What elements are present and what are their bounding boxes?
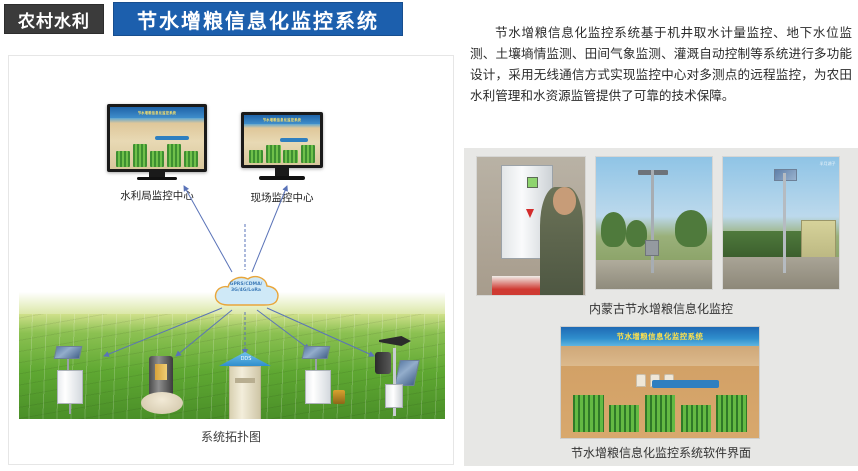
topology-caption: 系统拓扑图 <box>9 428 453 445</box>
metering-vent-icon <box>235 378 255 383</box>
gallery-block: 半月湖子 内蒙古节水增粮信息化监控 节水增粮信息化监控系统 <box>464 148 858 466</box>
topology-panel: 节水增粮信息化监控系统 水利局监控中心 <box>8 55 454 465</box>
sensor-enclosure-icon <box>645 240 659 256</box>
mast-icon <box>651 170 654 273</box>
solar-panel-icon <box>302 346 331 359</box>
node-weather-station <box>371 336 429 416</box>
metering-house-icon <box>229 366 261 419</box>
weather-cabinet-icon <box>385 384 403 408</box>
solar-panel-icon <box>394 360 420 386</box>
well-base-icon <box>141 392 183 414</box>
cabinet-icon <box>305 370 331 404</box>
wind-vane-icon <box>379 336 411 346</box>
software-interface-screenshot: 节水增粮信息化监控系统 <box>560 326 760 439</box>
gateway-label: DDS <box>235 356 257 363</box>
topology-diagram: 节水增粮信息化监控系统 水利局监控中心 <box>19 64 445 419</box>
valve-icon <box>333 390 345 404</box>
photos-caption: 内蒙古节水增粮信息化监控 <box>464 300 858 317</box>
photo-row: 半月湖子 <box>476 156 848 296</box>
photo-watermark: 半月湖子 <box>820 161 836 167</box>
software-caption: 节水增粮信息化监控系统软件界面 <box>464 444 858 461</box>
crop-plot <box>645 395 676 433</box>
high-voltage-icon <box>526 209 534 218</box>
cabinet-icon <box>57 370 83 404</box>
solar-panel-icon <box>54 346 83 359</box>
technician-head <box>553 187 577 215</box>
page-root: 农村水利 节水增粮信息化监控系统 节水增粮信息化监控系统 <box>0 0 858 471</box>
pole-icon <box>69 404 71 414</box>
content-panel: 节水增粮信息化监控系统基于机井取水计量监控、地下水位监测、土壤墒情监测、田间气象… <box>462 0 858 471</box>
crop-plot <box>681 405 712 432</box>
ground-path <box>596 260 712 289</box>
software-scene-sky <box>561 346 759 366</box>
page-title: 节水增粮信息化监控系统 <box>113 2 403 36</box>
crop-fields-graphic <box>573 395 747 433</box>
cloud-network-label: GPRS/CDMA/ 3G/4G/LoRa <box>210 282 282 294</box>
hedge-row <box>723 231 807 257</box>
control-cabinet-photo <box>476 156 586 296</box>
intro-paragraph: 节水增粮信息化监控系统基于机井取水计量监控、地下水位监测、土壤墒情监测、田间气象… <box>470 22 852 106</box>
node-irrigation-valve <box>301 346 347 414</box>
wireless-network-cloud: GPRS/CDMA/ 3G/4G/LoRa <box>210 271 282 311</box>
page-header: 农村水利 节水增粮信息化监控系统 <box>0 0 460 46</box>
software-title: 节水增粮信息化监控系统 <box>617 331 704 342</box>
weather-station-photo <box>595 156 713 290</box>
node-well-metering: DDS <box>219 352 271 419</box>
crop-plot <box>609 405 640 432</box>
rain-gauge-icon <box>375 352 391 374</box>
tree-shape <box>675 210 707 247</box>
node-groundwater-level <box>141 356 187 418</box>
storage-tank-icon <box>636 374 646 387</box>
section-tag: 农村水利 <box>4 4 104 34</box>
node-soil-moisture <box>53 346 99 414</box>
pipeline-graphic <box>652 380 719 388</box>
equipment-carton <box>492 276 540 295</box>
solar-monitoring-pole-photo: 半月湖子 <box>722 156 840 290</box>
tree-shape <box>601 212 627 246</box>
well-label-icon <box>155 364 167 380</box>
crop-plot <box>573 395 604 433</box>
ground-road <box>723 257 839 289</box>
meter-display-icon <box>527 177 538 188</box>
software-title-bar: 节水增粮信息化监控系统 <box>561 327 759 346</box>
mast-icon <box>783 173 786 273</box>
crop-plot <box>716 395 747 433</box>
